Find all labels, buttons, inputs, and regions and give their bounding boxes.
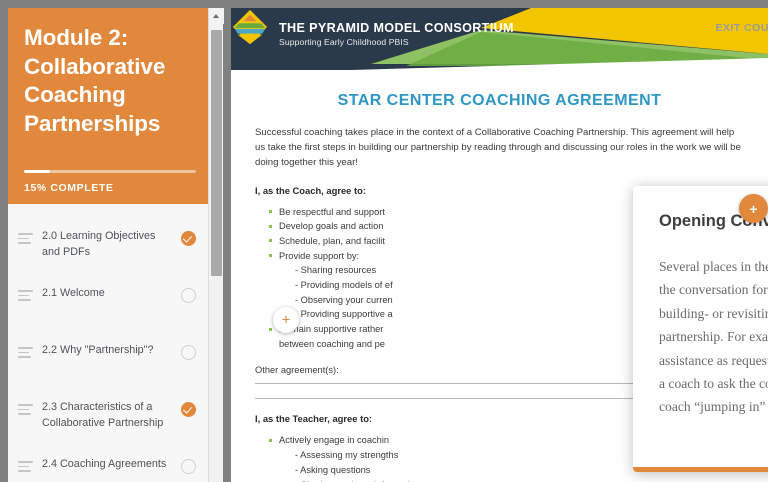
progress-fill	[24, 170, 50, 173]
progress-bar	[24, 170, 196, 173]
lesson-label: 2.2 Why "Partnership"?	[42, 343, 181, 359]
sidebar-scrollbar-thumb[interactable]	[211, 30, 222, 276]
document-intro: Successful coaching takes place in the c…	[255, 126, 744, 171]
lesson-status-done-icon	[181, 231, 196, 246]
hotspot-marker-coach[interactable]: +	[273, 307, 299, 333]
lesson-status-todo-icon	[181, 459, 196, 474]
exit-course-link[interactable]: EXIT COURSE	[715, 22, 768, 34]
module-header: Module 2: Collaborative Coaching Partner…	[8, 8, 208, 204]
lesson-status-todo-icon	[181, 288, 196, 303]
brand-block: THE PYRAMID MODEL CONSORTIUM Supporting …	[279, 21, 514, 47]
course-player: Module 2: Collaborative Coaching Partner…	[0, 0, 768, 482]
site-banner: THE PYRAMID MODEL CONSORTIUM Supporting …	[231, 8, 768, 70]
lesson-lines-icon	[18, 404, 34, 418]
content-stage: THE PYRAMID MODEL CONSORTIUM Supporting …	[231, 8, 768, 482]
popup-body: Several places in the coaching agreement…	[659, 255, 768, 419]
lesson-label: 2.3 Characteristics of a Collaborative P…	[42, 400, 181, 431]
hotspot-popup: Opening Conversations ‹ › Several places…	[633, 186, 768, 472]
module-title: Module 2: Collaborative Coaching Partner…	[24, 24, 199, 138]
lesson-item[interactable]: 2.3 Characteristics of a Collaborative P…	[8, 389, 208, 446]
lesson-item[interactable]: 2.0 Learning Objectives and PDFs	[8, 218, 208, 275]
lesson-lines-icon	[18, 461, 34, 475]
lesson-status-todo-icon	[181, 345, 196, 360]
course-sidebar: Module 2: Collaborative Coaching Partner…	[8, 8, 208, 482]
lesson-list: 2.0 Learning Objectives and PDFs2.1 Welc…	[8, 204, 208, 482]
document-title: STAR CENTER COACHING AGREEMENT	[255, 92, 744, 110]
sidebar-scrollbar-track[interactable]	[208, 8, 223, 482]
brand-tagline: Supporting Early Childhood PBIS	[279, 37, 514, 47]
lesson-status-done-icon	[181, 402, 196, 417]
lesson-lines-icon	[18, 290, 34, 304]
lesson-label: 2.0 Learning Objectives and PDFs	[42, 229, 181, 260]
lesson-label: 2.1 Welcome	[42, 286, 181, 302]
brand-name: THE PYRAMID MODEL CONSORTIUM	[279, 21, 514, 35]
document-bullet: - Sharing pertinent information	[269, 478, 744, 482]
hotspot-marker-active[interactable]: +	[739, 194, 768, 223]
pyramid-logo-icon	[231, 8, 269, 46]
lesson-lines-icon	[18, 347, 34, 361]
lesson-item[interactable]: 2.1 Welcome	[8, 275, 208, 332]
lesson-label: 2.4 Coaching Agreements	[42, 457, 181, 473]
plus-icon: +	[749, 202, 757, 216]
lesson-item[interactable]: 2.4 Coaching Agreements	[8, 446, 208, 482]
lesson-item[interactable]: 2.2 Why "Partnership"?	[8, 332, 208, 389]
plus-icon: +	[282, 313, 291, 328]
lesson-lines-icon	[18, 233, 34, 247]
scroll-up-arrow-icon[interactable]	[209, 8, 224, 24]
progress-track	[24, 170, 196, 173]
progress-label: 15% COMPLETE	[24, 182, 113, 194]
